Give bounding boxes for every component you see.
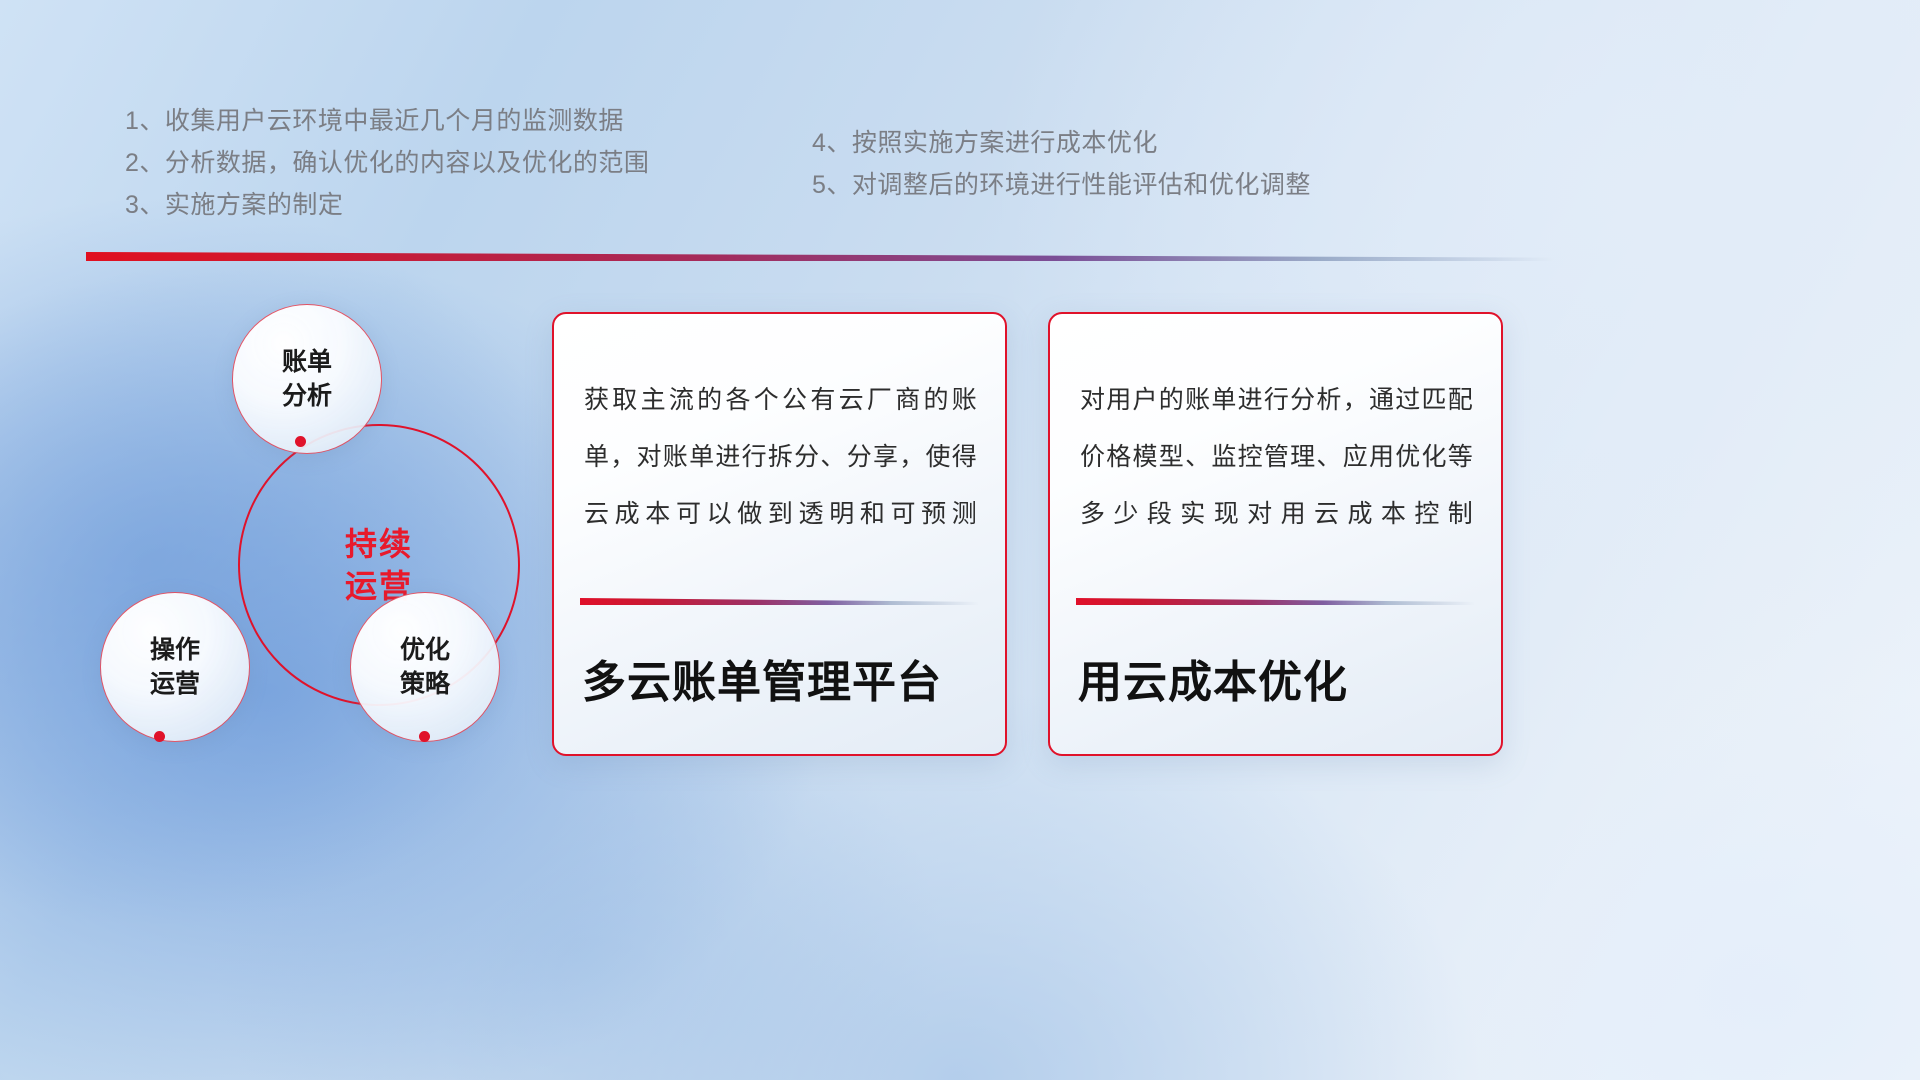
bullet-item: 3、实施方案的制定: [125, 184, 649, 226]
connector-dot-left: [154, 731, 165, 742]
card-title: 多云账单管理平台: [582, 646, 983, 710]
node-label-line1: 优化: [400, 633, 450, 667]
card-body-text: 获取主流的各个公有云厂商的账单，对账单进行拆分、分享，使得云成本可以做到透明和可…: [584, 372, 977, 543]
card-divider: [580, 598, 979, 605]
node-label-line1: 操作: [150, 633, 200, 667]
connector-dot-right: [419, 731, 430, 742]
bullet-item: 5、对调整后的环境进行性能评估和优化调整: [812, 164, 1311, 206]
bullet-list-right: 4、按照实施方案进行成本优化 5、对调整后的环境进行性能评估和优化调整: [812, 122, 1311, 206]
card-cloud-cost-optimization[interactable]: 对用户的账单进行分析，通过匹配价格模型、监控管理、应用优化等多少段实现对用云成本…: [1048, 312, 1503, 756]
node-bill-analysis[interactable]: 账单 分析: [232, 304, 382, 454]
divider-bar: [86, 252, 1554, 261]
bullet-item: 1、收集用户云环境中最近几个月的监测数据: [125, 100, 649, 142]
card-divider: [1076, 598, 1475, 605]
connector-dot-top: [295, 436, 306, 447]
bullet-item: 2、分析数据，确认优化的内容以及优化的范围: [125, 142, 649, 184]
card-title: 用云成本优化: [1078, 646, 1479, 710]
bullet-list-left: 1、收集用户云环境中最近几个月的监测数据 2、分析数据，确认优化的内容以及优化的…: [125, 100, 649, 226]
node-label-line2: 运营: [150, 667, 200, 701]
bullet-item: 4、按照实施方案进行成本优化: [812, 122, 1311, 164]
node-label-line2: 策略: [400, 667, 450, 701]
node-label-line1: 账单: [282, 345, 332, 379]
node-label-line2: 分析: [282, 379, 332, 413]
card-multi-cloud-billing[interactable]: 获取主流的各个公有云厂商的账单，对账单进行拆分、分享，使得云成本可以做到透明和可…: [552, 312, 1007, 756]
node-optimization-strategy[interactable]: 优化 策略: [350, 592, 500, 742]
cycle-diagram: 持续 运营 账单 分析 操作 运营 优化 策略: [78, 296, 548, 766]
section-divider: [86, 252, 1554, 261]
card-body-text: 对用户的账单进行分析，通过匹配价格模型、监控管理、应用优化等多少段实现对用云成本…: [1080, 372, 1473, 543]
center-label-line1: 持续: [345, 523, 413, 565]
node-operation[interactable]: 操作 运营: [100, 592, 250, 742]
